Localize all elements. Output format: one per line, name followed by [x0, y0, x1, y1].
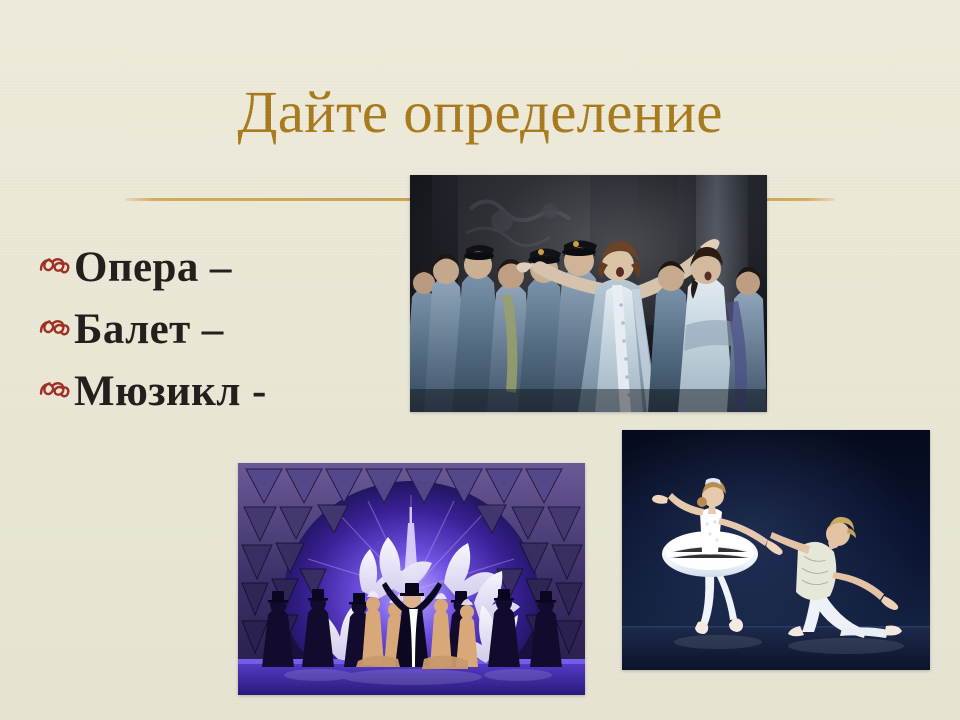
- list-item-label: Мюзикл -: [74, 367, 267, 416]
- list-item[interactable]: Опера –: [38, 243, 438, 305]
- ballet-duet-photo: [622, 430, 930, 670]
- list-item[interactable]: Мюзикл -: [38, 367, 438, 429]
- slide-title: Дайте определение: [0, 82, 960, 143]
- list-item-label: Опера –: [74, 243, 232, 292]
- fleuron-bullet-icon: [38, 251, 74, 279]
- musical-revue-photo: [238, 463, 585, 695]
- opera-chorus-photo: [410, 175, 767, 412]
- fleuron-bullet-icon: [38, 313, 74, 341]
- list-item-label: Балет –: [74, 305, 224, 354]
- fleuron-bullet-icon: [38, 375, 74, 403]
- bullet-list: Опера – Балет –: [38, 243, 438, 429]
- list-item[interactable]: Балет –: [38, 305, 438, 367]
- presentation-slide: Дайте определение Опера –: [0, 0, 960, 720]
